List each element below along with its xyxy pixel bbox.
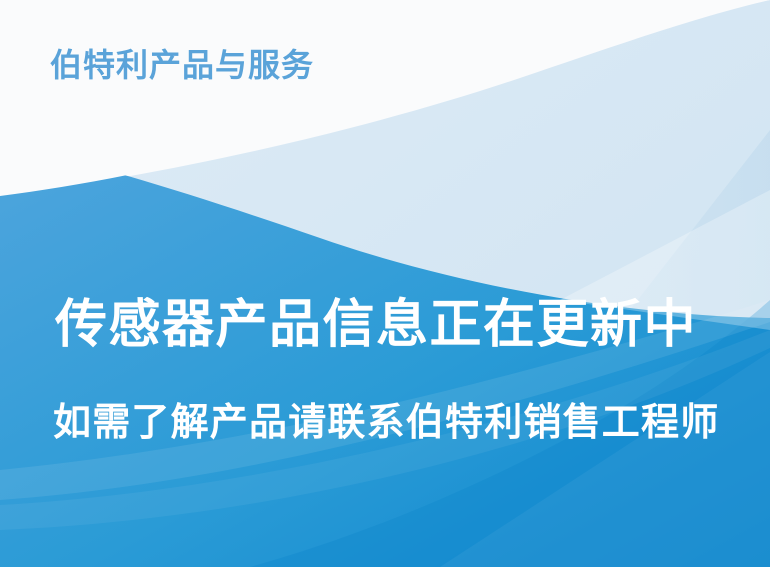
decorative-wave-background	[0, 0, 770, 567]
product-service-banner: 伯特利产品与服务 传感器产品信息正在更新中 如需了解产品请联系伯特利销售工程师	[0, 0, 770, 567]
